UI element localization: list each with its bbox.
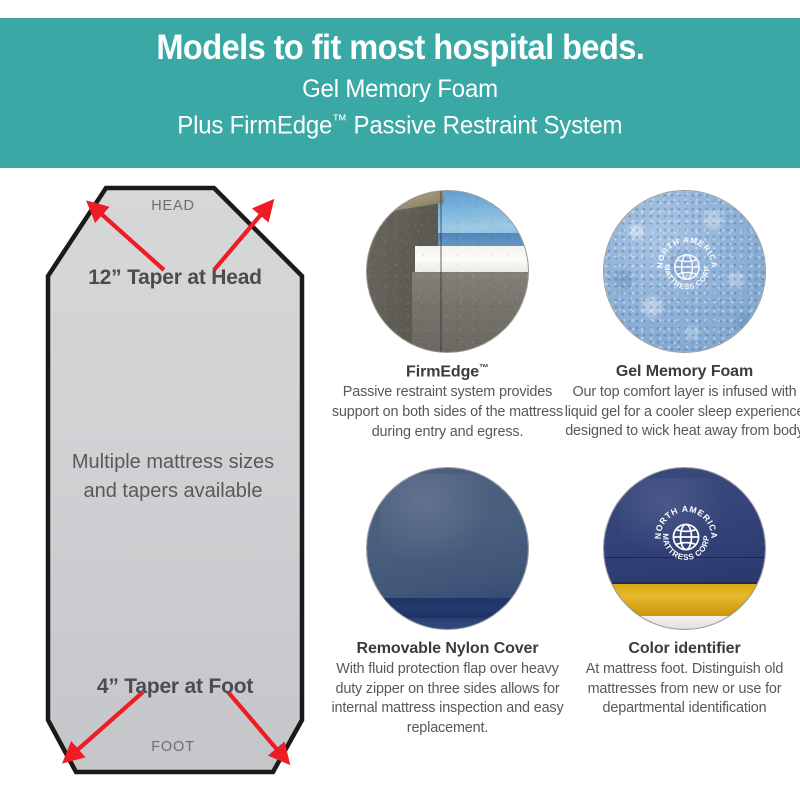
feature-description-removable-nylon-cover: With fluid protection flap over heavy du… (323, 660, 573, 738)
header-subtitle-line2: Plus FirmEdge™ Passive Restraint System (177, 105, 622, 142)
feature-title-removable-nylon-cover: Removable Nylon Cover (357, 640, 539, 658)
north-america-mattress-logo: NORTH AMERICA MATTRESS CORP. (649, 500, 723, 574)
features-grid: FirmEdge™ Passive restraint system provi… (330, 190, 800, 790)
mattress-sizes-note-line1: Multiple mattress sizes (18, 448, 328, 477)
foot-taper-label: 4” Taper at Foot (20, 675, 330, 699)
mattress-diagram: HEAD 12” Taper at Head Multiple mattress… (18, 180, 328, 790)
feature-removable-nylon-cover: Removable Nylon Cover With fluid protect… (330, 467, 565, 738)
feature-title-color-identifier: Color identifier (628, 640, 740, 658)
page-title: Models to fit most hospital beds. (156, 27, 644, 69)
nylon-cover-photo (366, 467, 529, 630)
feature-description-gel-memory-foam: Our top comfort layer is infused with li… (560, 383, 800, 442)
trademark-symbol: ™ (479, 363, 489, 374)
header-subtitle-line2-after: Passive Restraint System (347, 112, 622, 140)
mattress-sizes-note: Multiple mattress sizes and tapers avail… (18, 448, 328, 506)
mattress-sizes-note-line2: and tapers available (18, 477, 328, 506)
feature-description-firmedge: Passive restraint system provides suppor… (323, 383, 573, 442)
feature-title-text: FirmEdge (406, 363, 479, 380)
feature-title-firmedge: FirmEdge™ (406, 363, 489, 381)
feature-gel-memory-foam: NORTH AMERICA MATTRESS CORP. Gel Memory … (567, 190, 800, 442)
header-subtitle-line2-before: Plus FirmEdge (177, 112, 332, 140)
feature-color-identifier: NORTH AMERICA MATTRESS CORP. Color ident… (567, 467, 800, 719)
color-identifier-photo: NORTH AMERICA MATTRESS CORP. (603, 467, 766, 630)
north-america-mattress-logo-watermark: NORTH AMERICA MATTRESS CORP. (651, 231, 723, 303)
header-subtitle-line1: Gel Memory Foam (302, 74, 498, 105)
infographic-page: Models to fit most hospital beds. Gel Me… (0, 0, 800, 800)
firmedge-foam-layers-photo (366, 190, 529, 353)
mattress-foot-label: FOOT (18, 739, 328, 755)
gel-memory-foam-photo: NORTH AMERICA MATTRESS CORP. (603, 190, 766, 353)
feature-firmedge: FirmEdge™ Passive restraint system provi… (330, 190, 565, 442)
head-taper-label: 12” Taper at Head (20, 266, 330, 290)
mattress-head-label: HEAD (18, 198, 328, 214)
feature-description-color-identifier: At mattress foot. Distinguish old mattre… (560, 660, 800, 719)
trademark-symbol: ™ (332, 112, 347, 129)
logo-top-arc-text: NORTH AMERICA (655, 235, 718, 268)
header-band: Models to fit most hospital beds. Gel Me… (0, 18, 800, 168)
feature-title-gel-memory-foam: Gel Memory Foam (616, 363, 753, 381)
svg-text:NORTH AMERICA: NORTH AMERICA (655, 235, 718, 268)
